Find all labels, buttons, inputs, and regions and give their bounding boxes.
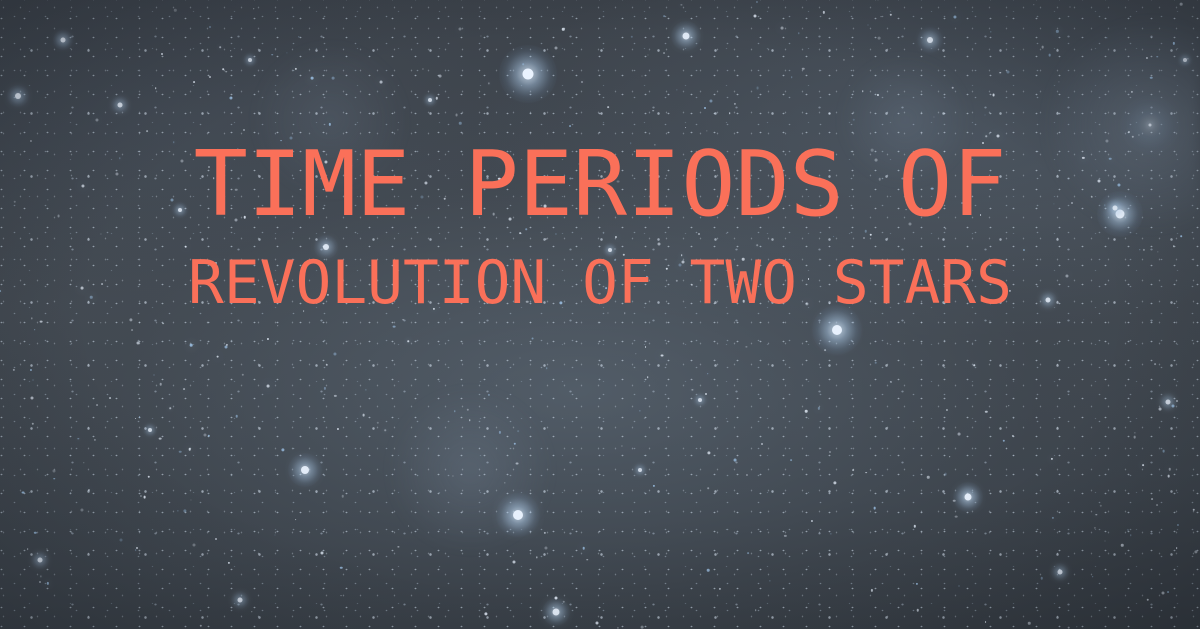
page-title-line-1: TIME PERIODS OF [0,137,1200,233]
page-title-line-2: REVOLUTION OF TWO STARS [0,251,1200,317]
poster-canvas: TIME PERIODS OF REVOLUTION OF TWO STARS [0,0,1200,629]
